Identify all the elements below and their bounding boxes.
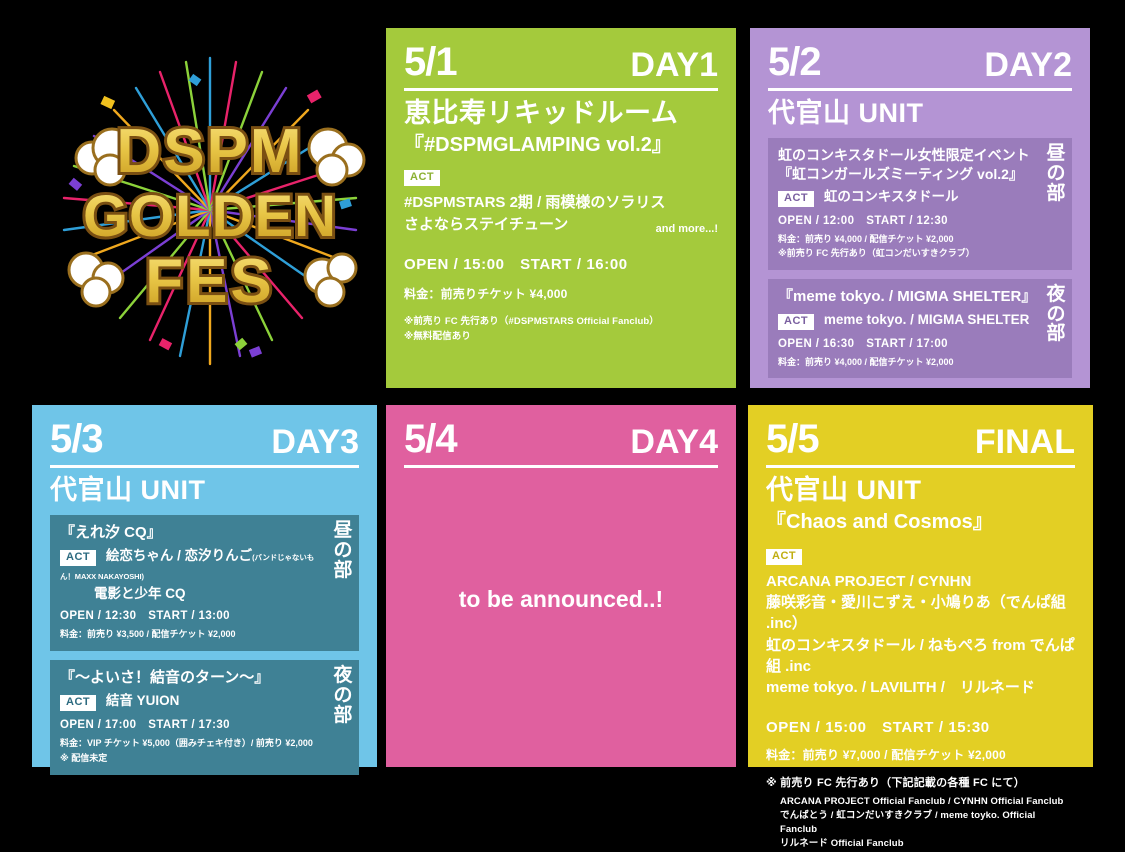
day1-date: 5/1 — [404, 42, 457, 82]
day4-tba-text: to be announced..! — [404, 586, 718, 613]
final-note: ※ 前売り FC 先行あり（下記記載の各種 FC にて） — [766, 774, 1075, 790]
day3-evening-times: OPEN / 17:00 START / 17:30 — [60, 716, 325, 732]
day1-divider — [404, 88, 718, 91]
final-fanclub-line-1: ARCANA PROJECT Official Fanclub / CYNHN … — [780, 795, 1075, 809]
final-event-title: 『Chaos and Cosmos』 — [766, 509, 1075, 535]
day1-act-badge: ACT — [404, 170, 440, 186]
final-divider — [766, 465, 1075, 468]
svg-text:DSPM: DSPM — [116, 117, 303, 186]
day2-matinee-title: 『虹コンガールズミーティング vol.2』 — [778, 165, 1038, 184]
day2-matinee-price: 料金：前売り ¥4,000 / 配信チケット ¥2,000 — [778, 233, 1038, 247]
day-panel-final[interactable]: 5/5 FINAL 代官山 UNIT 『Chaos and Cosmos』 AC… — [748, 405, 1093, 767]
day2-evening-act: meme tokyo. / MIGMA SHELTER — [824, 312, 1030, 327]
final-times: OPEN / 15:00 START / 15:30 — [766, 716, 1075, 737]
day3-matinee-act-line-2: 電影と少年 CQ — [94, 585, 325, 603]
day2-evening-title: 『meme tokyo. / MIGMA SHELTER』 — [778, 287, 1038, 307]
day2-evening-act-badge: ACT — [778, 314, 814, 330]
day2-block-evening: 夜の部 『meme tokyo. / MIGMA SHELTER』 ACT me… — [768, 279, 1072, 379]
day3-matinee-vertical-label: 昼の部 — [331, 521, 355, 581]
day3-block-matinee: 昼の部 『えれ汐 CQ』 ACT 絵恋ちゃん / 恋汐りんご(バンドじゃないもん… — [50, 515, 359, 651]
day3-matinee-act-row: ACT 絵恋ちゃん / 恋汐りんご(バンドじゃないもん！MAXX NAKAYOS… — [60, 547, 325, 583]
day2-date: 5/2 — [768, 42, 821, 82]
day1-act-line-1: #DSPMSTARS 2期 / 雨模様のソラリス — [404, 193, 718, 213]
final-header: 5/5 FINAL — [766, 419, 1075, 461]
day2-evening-times: OPEN / 16:30 START / 17:00 — [778, 335, 1038, 351]
day2-matinee-note: ※前売り FC 先行あり（虹コンだいすきクラブ） — [778, 247, 1038, 261]
day2-evening-price: 料金：前売り ¥4,000 / 配信チケット ¥2,000 — [778, 356, 1038, 370]
day2-label: DAY2 — [984, 48, 1072, 82]
final-acts: ARCANA PROJECT / CYNHN 藤咲彩音・愛川こずえ・小鳩りあ（で… — [766, 571, 1075, 699]
festival-logo: DSPM GOLDEN FES — [40, 40, 380, 380]
day1-times: OPEN / 15:00 START / 16:00 — [404, 253, 718, 274]
day4-label: DAY4 — [630, 425, 718, 459]
day2-evening-act-row: ACT meme tokyo. / MIGMA SHELTER — [778, 311, 1038, 330]
day3-evening-vertical-label: 夜の部 — [331, 666, 355, 726]
day2-matinee-act-row: ACT 虹のコンキスタドール — [778, 188, 1038, 207]
day2-venue: 代官山 UNIT — [768, 98, 1072, 129]
day1-label: DAY1 — [630, 48, 718, 82]
day2-matinee-act-badge: ACT — [778, 191, 814, 207]
day3-evening-act: 結音 YUION — [106, 693, 180, 708]
final-act-line-2: 藤咲彩音・愛川こずえ・小鳩りあ（でんぱ組 .inc） — [766, 592, 1075, 635]
final-date: 5/5 — [766, 419, 819, 459]
day1-act-line-2: さよならステイチューン — [404, 215, 568, 235]
day4-header: 5/4 DAY4 — [404, 419, 718, 461]
day3-matinee-price: 料金：前売り ¥3,500 / 配信チケット ¥2,000 — [60, 628, 325, 642]
svg-text:GOLDEN: GOLDEN — [83, 184, 337, 249]
day2-evening-vertical-label: 夜の部 — [1044, 285, 1068, 345]
day3-venue: 代官山 UNIT — [50, 475, 359, 506]
day3-evening-act-badge: ACT — [60, 695, 96, 711]
day2-block-matinee: 昼の部 虹のコンキスタドール女性限定イベント 『虹コンガールズミーティング vo… — [768, 138, 1072, 270]
day1-event-title: 『#DSPMGLAMPING vol.2』 — [404, 132, 718, 158]
day2-header: 5/2 DAY2 — [768, 42, 1072, 84]
day3-matinee-act-badge: ACT — [60, 550, 96, 566]
final-label: FINAL — [975, 425, 1075, 459]
day3-evening-act-row: ACT 結音 YUION — [60, 692, 325, 711]
svg-text:FES: FES — [145, 247, 275, 316]
day-panel-day4[interactable]: 5/4 DAY4 to be announced..! — [386, 405, 736, 767]
day2-matinee-vertical-label: 昼の部 — [1044, 144, 1068, 204]
day-panel-day3[interactable]: 5/3 DAY3 代官山 UNIT 昼の部 『えれ汐 CQ』 ACT 絵恋ちゃん… — [32, 405, 377, 767]
day2-divider — [768, 88, 1072, 91]
day-panel-day1[interactable]: 5/1 DAY1 恵比寿リキッドルーム 『#DSPMGLAMPING vol.2… — [386, 28, 736, 388]
day3-matinee-times: OPEN / 12:30 START / 13:00 — [60, 607, 325, 623]
day3-evening-price: 料金：VIP チケット ¥5,000（囲みチェキ付き）/ 前売り ¥2,000 — [60, 737, 325, 751]
day3-evening-note: ※ 配信未定 — [60, 752, 325, 766]
day3-matinee-title: 『えれ汐 CQ』 — [60, 523, 325, 543]
final-act-line-1: ARCANA PROJECT / CYNHN — [766, 571, 1075, 592]
day3-date: 5/3 — [50, 419, 103, 459]
day1-note-1: ※前売り FC 先行あり（#DSPMSTARS Official Fanclub… — [404, 315, 718, 329]
day3-evening-title: 『〜よいさ！結音のターン〜』 — [60, 668, 325, 688]
day2-matinee-act: 虹のコンキスタドール — [824, 189, 959, 204]
final-fanclubs: ARCANA PROJECT Official Fanclub / CYNHN … — [780, 795, 1075, 852]
day3-header: 5/3 DAY3 — [50, 419, 359, 461]
day1-note-2: ※無料配信あり — [404, 330, 718, 344]
day2-matinee-times: OPEN / 12:00 START / 12:30 — [778, 212, 1038, 228]
day3-matinee-act: 絵恋ちゃん / 恋汐りんご — [106, 548, 252, 563]
logo-artwork: DSPM GOLDEN FES — [40, 40, 380, 380]
poster-grid: DSPM GOLDEN FES 5/1 DAY1 恵比寿リキッドルーム 『#DS… — [0, 0, 1125, 795]
day3-divider — [50, 465, 359, 468]
final-act-badge: ACT — [766, 549, 802, 565]
day1-venue: 恵比寿リキッドルーム — [404, 98, 718, 129]
day-panel-day2[interactable]: 5/2 DAY2 代官山 UNIT 昼の部 虹のコンキスタドール女性限定イベント… — [750, 28, 1090, 388]
day3-block-evening: 夜の部 『〜よいさ！結音のターン〜』 ACT 結音 YUION OPEN / 1… — [50, 660, 359, 775]
final-fanclub-line-2: でんばとう / 虹コンだいすきクラブ / meme toyko. Officia… — [780, 809, 1075, 838]
day3-label: DAY3 — [271, 425, 359, 459]
day1-and-more: and more...! — [656, 223, 718, 235]
day1-price: 料金：前売りチケット ¥4,000 — [404, 285, 718, 302]
final-price: 料金：前売り ¥7,000 / 配信チケット ¥2,000 — [766, 746, 1075, 763]
final-fanclub-line-3: リルネード Official Fanclub — [780, 837, 1075, 851]
day2-matinee-subtitle: 虹のコンキスタドール女性限定イベント — [778, 146, 1038, 165]
final-act-line-4: meme tokyo. / LAVILITH / リルネード — [766, 677, 1075, 698]
final-venue: 代官山 UNIT — [766, 475, 1075, 506]
day1-header: 5/1 DAY1 — [404, 42, 718, 84]
day4-divider — [404, 465, 718, 468]
day4-date: 5/4 — [404, 419, 457, 459]
final-act-line-3: 虹のコンキスタドール / ねもぺろ from でんぱ組 .inc — [766, 635, 1075, 678]
